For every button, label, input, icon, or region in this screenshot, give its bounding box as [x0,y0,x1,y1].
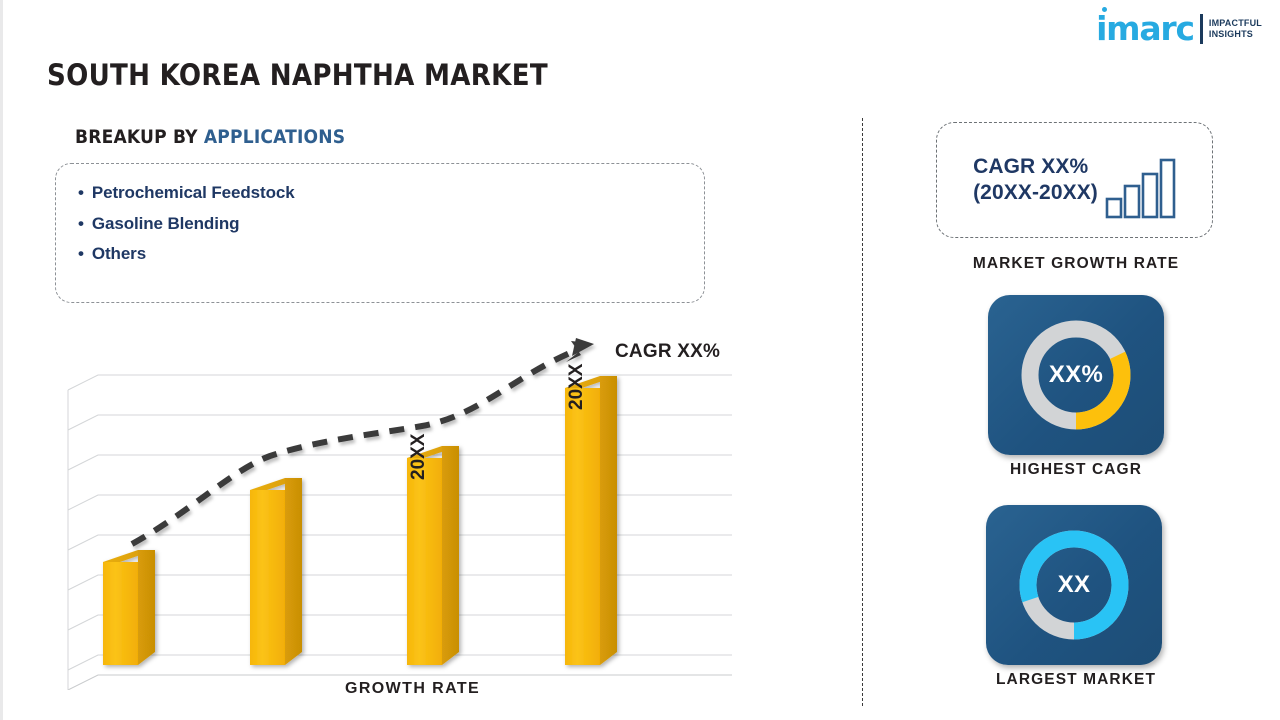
imarc-logo: imarc IMPACTFUL INSIGHTS [1096,12,1262,45]
cagr-card-text: CAGR XX% (20XX-20XX) [973,154,1098,205]
breakup-lead-text: BREAKUP BY [75,126,204,148]
logo-tagline: IMPACTFUL INSIGHTS [1209,18,1262,38]
left-edge-accent [0,0,3,720]
logo-tagline-line2: INSIGHTS [1209,29,1262,39]
chart-cagr-annotation: CAGR XX% [615,341,720,363]
page-title: SOUTH KOREA NAPHTHA MARKET [47,58,548,92]
chart-xlabel: GROWTH RATE [345,680,480,698]
growth-rate-chart: 20XX 20XX [60,330,760,720]
breakup-accent-text: APPLICATIONS [204,126,345,148]
logo-divider [1200,14,1203,44]
largest-market-tile: XX [986,505,1162,665]
applications-box: Petrochemical Feedstock Gasoline Blendin… [55,163,705,303]
applications-list: Petrochemical Feedstock Gasoline Blendin… [78,178,682,270]
highest-cagr-value: XX% [988,361,1164,389]
section-divider [862,118,863,706]
infographic-page: imarc IMPACTFUL INSIGHTS SOUTH KOREA NAP… [0,0,1280,720]
logo-tagline-line1: IMPACTFUL [1209,18,1262,28]
chart-gridlines [68,375,732,690]
label-highest-cagr: HIGHEST CAGR [936,461,1216,479]
largest-market-value: XX [986,571,1162,599]
highest-cagr-tile: XX% [988,295,1164,455]
trend-line [132,338,594,544]
logo-word-text: imarc [1096,9,1194,48]
list-item: Gasoline Blending [78,209,682,240]
list-item: Petrochemical Feedstock [78,178,682,209]
label-market-growth-rate: MARKET GROWTH RATE [936,255,1216,273]
cagr-card-line2: (20XX-20XX) [973,180,1098,206]
bar-2 [250,478,302,665]
list-item: Others [78,239,682,270]
bar-4 [565,376,617,665]
bar-4-label: 20XX [566,363,587,410]
bar-chart-icon [1104,155,1176,221]
bar-3-label: 20XX [408,433,429,480]
logo-wordmark: imarc [1096,12,1194,45]
bar-1 [103,550,155,665]
breakup-heading: BREAKUP BY APPLICATIONS [75,126,345,148]
market-growth-rate-card: CAGR XX% (20XX-20XX) [936,122,1213,238]
label-largest-market: LARGEST MARKET [936,671,1216,689]
cagr-card-line1: CAGR XX% [973,154,1098,180]
chart-svg: 20XX 20XX [60,330,760,690]
